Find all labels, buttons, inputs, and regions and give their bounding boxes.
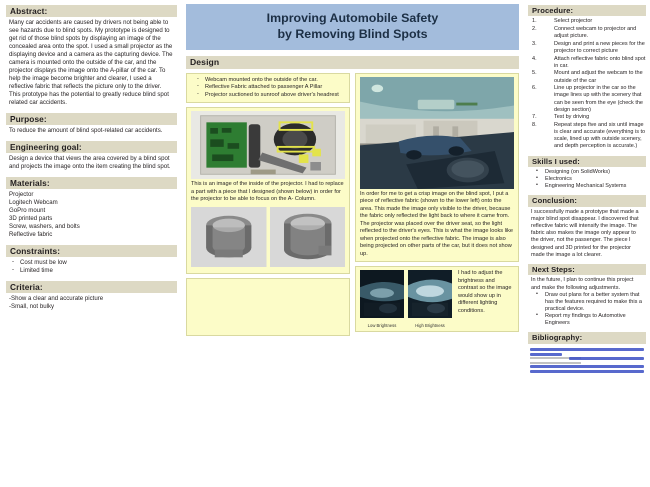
list-item: Reflective fabric: [9, 231, 174, 239]
next-steps-section: Next Steps: In the future, I plan to con…: [528, 264, 646, 327]
abstract-heading: Abstract:: [6, 5, 177, 17]
poster-title: Improving Automobile Safety by Removing …: [186, 4, 519, 50]
list-item: Logitech Webcam: [9, 199, 174, 207]
purpose-text: To reduce the amount of blind spot-relat…: [6, 127, 177, 135]
next-steps-intro: In the future, I plan to continue this p…: [528, 277, 646, 291]
projector-internals-photo: [191, 111, 345, 179]
next-steps-heading: Next Steps:: [528, 264, 646, 275]
abstract-section: Abstract: Many car accidents are caused …: [6, 5, 177, 107]
low-brightness-image: [360, 270, 404, 318]
list-item: Cost must be low: [12, 259, 177, 267]
abstract-text: Many car accidents are caused by drivers…: [6, 19, 177, 106]
purpose-heading: Purpose:: [6, 113, 177, 125]
car-interior-image: [360, 77, 514, 189]
list-item: -Small, not bulky: [9, 303, 174, 311]
part-left-wrap: [191, 207, 267, 270]
procedure-section: Procedure: Select projector Connect webc…: [528, 5, 646, 151]
design-left-subcolumn: Webcam mounted onto the outside of the c…: [186, 73, 350, 340]
skills-section: Skills I used: Designing (on SolidWorks)…: [528, 156, 646, 191]
bibliography-links: [528, 346, 646, 376]
bibliography-link[interactable]: [530, 370, 644, 373]
list-item: GoPro mount: [9, 207, 174, 215]
materials-heading: Materials:: [6, 177, 177, 189]
bibliography-section: Bibliography:: [528, 332, 646, 375]
design-grid: Webcam mounted onto the outside of the c…: [186, 73, 519, 340]
projector-internals-image: [191, 111, 345, 179]
list-item: Projector suctioned to sunroof above dri…: [197, 92, 345, 99]
3d-printed-lens-mount-render-left: [191, 207, 267, 267]
list-item: Test by driving: [528, 114, 646, 121]
design-bullet-list: Webcam mounted onto the outside of the c…: [191, 77, 345, 99]
list-item: Reflective Fabric attached to passenger …: [197, 84, 345, 91]
high-brightness-figure: High Brightness: [408, 270, 452, 328]
brightness-description-text: I had to adjust the brightness and contr…: [456, 270, 514, 315]
engineering-goal-text: Design a device that views the area cove…: [6, 155, 177, 171]
list-item: Limited time: [12, 267, 177, 275]
bibliography-link[interactable]: [530, 348, 644, 351]
science-fair-poster: Abstract: Many car accidents are caused …: [0, 0, 650, 487]
brightness-comparison-box: Low Brightness High Brightness: [355, 266, 519, 332]
constraints-heading: Constraints:: [6, 245, 177, 257]
list-item: Repeat steps five and six until image is…: [528, 122, 646, 151]
conclusion-heading: Conclusion:: [528, 195, 646, 206]
list-item: Screw, washers, and bolts: [9, 223, 174, 231]
engineering-goal-section: Engineering goal: Design a device that v…: [6, 141, 177, 171]
list-item: Line up projector in the car so the imag…: [528, 85, 646, 114]
title-line-1: Improving Automobile Safety: [190, 11, 515, 27]
list-item: Connect webcam to projector and adjust p…: [528, 26, 646, 40]
bibliography-link[interactable]: [530, 365, 644, 368]
low-brightness-caption: Low Brightness: [360, 322, 404, 329]
3d-printed-lens-mount-render-right: [270, 207, 346, 267]
criteria-section: Criteria: -Show a clear and accurate pic…: [6, 281, 177, 311]
list-item: Select projector: [528, 18, 646, 25]
car-interior-projection-photo: [360, 77, 514, 189]
materials-list: Projector Logitech Webcam GoPro mount 3D…: [6, 191, 177, 239]
high-brightness-caption: High Brightness: [408, 322, 452, 329]
list-item: Mount and adjust the webcam to the outsi…: [528, 70, 646, 84]
next-steps-list: Draw out plans for a better system that …: [528, 292, 646, 328]
projector-detail-box: This is an image of the inside of the pr…: [186, 107, 350, 274]
criteria-heading: Criteria:: [6, 281, 177, 293]
constraints-section: Constraints: Cost must be low Limited ti…: [6, 245, 177, 275]
left-column: Abstract: Many car accidents are caused …: [0, 0, 182, 487]
high-brightness-image: [408, 270, 452, 318]
conclusion-text: I successfully made a prototype that mad…: [528, 209, 646, 259]
title-line-2: by Removing Blind Spots: [190, 27, 515, 43]
low-brightness-figure: Low Brightness: [360, 270, 404, 328]
bibliography-link[interactable]: [569, 357, 644, 360]
projector-description-text: This is an image of the inside of the pr…: [191, 179, 345, 203]
part-right-wrap: [270, 207, 346, 270]
conclusion-section: Conclusion: I successfully made a protot…: [528, 195, 646, 258]
procedure-list: Select projector Connect webcam to proje…: [528, 18, 646, 150]
materials-section: Materials: Projector Logitech Webcam GoP…: [6, 177, 177, 239]
list-item: Report my findings to Automotive Enginee…: [536, 313, 646, 327]
constraints-list: Cost must be low Limited time: [6, 259, 177, 275]
list-item: Designing (on SolidWorks): [536, 169, 646, 176]
engineering-goal-heading: Engineering goal:: [6, 141, 177, 153]
list-item: Electronics: [536, 176, 646, 183]
skills-heading: Skills I used:: [528, 156, 646, 167]
bibliography-heading: Bibliography:: [528, 332, 646, 343]
middle-column: Improving Automobile Safety by Removing …: [182, 0, 523, 487]
right-column: Procedure: Select projector Connect webc…: [523, 0, 650, 487]
empty-content-box: [186, 278, 350, 336]
brightness-row: Low Brightness High Brightness: [360, 270, 514, 328]
design-heading: Design: [186, 56, 519, 69]
list-item: 3D printed parts: [9, 215, 174, 223]
design-bullets-box: Webcam mounted onto the outside of the c…: [186, 73, 350, 103]
list-item: Webcam mounted onto the outside of the c…: [197, 77, 345, 84]
car-projection-box: In order for me to get a crisp image on …: [355, 73, 519, 262]
list-item: Draw out plans for a better system that …: [536, 292, 646, 313]
bibliography-link[interactable]: [530, 353, 562, 356]
list-item: Projector: [9, 191, 174, 199]
bibliography-citation-text: [530, 362, 581, 364]
procedure-heading: Procedure:: [528, 5, 646, 16]
list-item: Engineering Mechanical Systems: [536, 183, 646, 190]
criteria-list: -Show a clear and accurate picture -Smal…: [6, 295, 177, 311]
printed-parts-images: [191, 207, 345, 270]
list-item: Attach reflective fabric onto blind spot…: [528, 56, 646, 70]
list-item: Design and print a new pieces for the pr…: [528, 41, 646, 55]
list-item: -Show a clear and accurate picture: [9, 295, 174, 303]
reflective-fabric-text: In order for me to get a crisp image on …: [360, 189, 514, 258]
purpose-section: Purpose: To reduce the amount of blind s…: [6, 113, 177, 135]
design-right-subcolumn: In order for me to get a crisp image on …: [355, 73, 519, 340]
skills-list: Designing (on SolidWorks) Electronics En…: [528, 169, 646, 190]
